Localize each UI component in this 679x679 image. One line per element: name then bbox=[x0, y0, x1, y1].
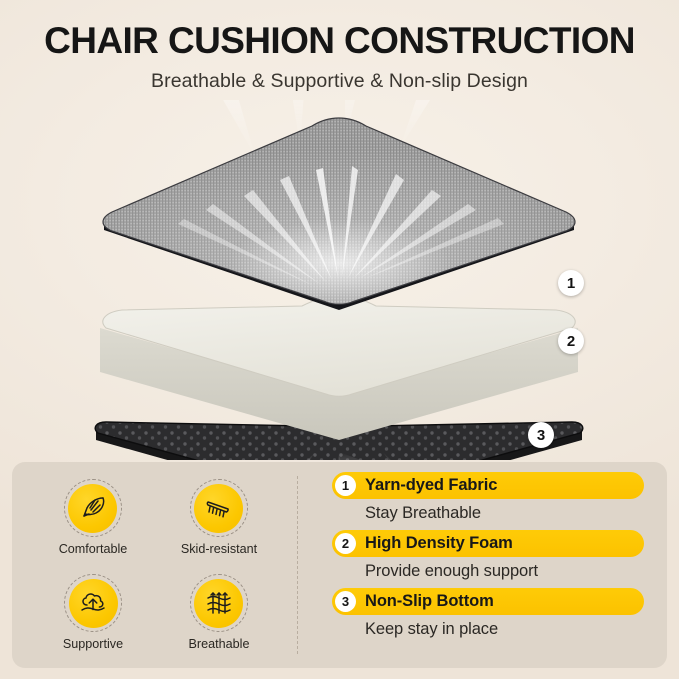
cushion-arrow-icon bbox=[69, 579, 118, 628]
benefit-breathable[interactable]: Breathable bbox=[189, 574, 250, 651]
features-panel: Comfortable Skid-resistant bbox=[12, 462, 667, 668]
feature-pill: 2 High Density Foam bbox=[332, 530, 644, 557]
layer-badge-2: 2 bbox=[558, 328, 584, 354]
feature-item-3[interactable]: 3 Non-Slip Bottom Keep stay in place bbox=[332, 588, 657, 639]
feature-item-1[interactable]: 1 Yarn-dyed Fabric Stay Breathable bbox=[332, 472, 657, 523]
benefit-supportive[interactable]: Supportive bbox=[63, 574, 123, 651]
header: CHAIR CUSHION CONSTRUCTION Breathable & … bbox=[0, 0, 679, 93]
feature-title: High Density Foam bbox=[365, 534, 513, 553]
feature-title: Non-Slip Bottom bbox=[365, 592, 494, 611]
feature-subtitle: Keep stay in place bbox=[365, 620, 657, 639]
panel-divider bbox=[297, 476, 298, 654]
woven-mesh-icon bbox=[194, 579, 243, 628]
benefit-label: Skid-resistant bbox=[181, 542, 257, 556]
grip-teeth-icon bbox=[194, 484, 243, 533]
feature-pill: 3 Non-Slip Bottom bbox=[332, 588, 644, 615]
icon-ring bbox=[190, 574, 248, 632]
layer-badge-3: 3 bbox=[528, 422, 554, 448]
infographic-page: CHAIR CUSHION CONSTRUCTION Breathable & … bbox=[0, 0, 679, 679]
benefit-label: Supportive bbox=[63, 637, 123, 651]
benefit-label: Comfortable bbox=[59, 542, 128, 556]
layer-badge-1: 1 bbox=[558, 270, 584, 296]
feature-number: 1 bbox=[335, 475, 356, 496]
feature-item-2[interactable]: 2 High Density Foam Provide enough suppo… bbox=[332, 530, 657, 581]
cushion-layer-diagram: 1 2 3 bbox=[0, 100, 679, 460]
layer-2-shape bbox=[100, 296, 578, 440]
feature-title: Yarn-dyed Fabric bbox=[365, 476, 497, 495]
feature-number: 3 bbox=[335, 591, 356, 612]
page-subtitle: Breathable & Supportive & Non-slip Desig… bbox=[0, 70, 679, 93]
feature-list: 1 Yarn-dyed Fabric Stay Breathable 2 Hig… bbox=[332, 472, 657, 646]
layer-1-shape bbox=[103, 118, 575, 310]
benefit-label: Breathable bbox=[189, 637, 250, 651]
feather-icon bbox=[68, 484, 117, 533]
feature-subtitle: Stay Breathable bbox=[365, 504, 657, 523]
benefit-comfortable[interactable]: Comfortable bbox=[59, 479, 128, 556]
icon-ring bbox=[64, 574, 122, 632]
benefit-icon-grid: Comfortable Skid-resistant bbox=[30, 470, 282, 660]
feature-number: 2 bbox=[335, 533, 356, 554]
benefit-skid-resistant[interactable]: Skid-resistant bbox=[181, 479, 257, 556]
page-title: CHAIR CUSHION CONSTRUCTION bbox=[0, 22, 679, 61]
feature-pill: 1 Yarn-dyed Fabric bbox=[332, 472, 644, 499]
icon-ring bbox=[64, 479, 122, 537]
feature-subtitle: Provide enough support bbox=[365, 562, 657, 581]
icon-ring bbox=[190, 479, 248, 537]
